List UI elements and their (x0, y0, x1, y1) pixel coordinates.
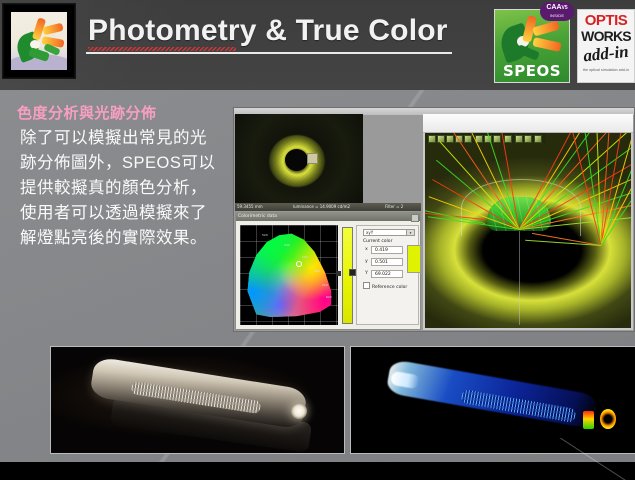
field-label-x: x (363, 246, 370, 254)
luminance-map-viewer (235, 114, 363, 203)
slide-canvas: Photometry & True Color SPEOS CAAV5 INSI… (0, 0, 635, 480)
section-body-text: 除了可以模擬出常見的光跡分佈圖外，SPEOS可以提供較擬真的顏色分析，使用者可以… (20, 126, 220, 251)
pan-icon[interactable] (446, 135, 454, 143)
cie-chromaticity-diagram[interactable]: 520 540 560 580 600 620 (240, 225, 338, 325)
spellcheck-underline (88, 47, 236, 51)
luminance-hotspot-bar (583, 411, 594, 429)
title-underline (86, 52, 452, 54)
true-color-render (50, 346, 345, 454)
field-value-y[interactable]: 0.501 (371, 258, 403, 266)
lamp-bulb-highlight (291, 403, 307, 419)
page-title: Photometry & True Color (88, 14, 448, 48)
current-color-group-label: Current color (363, 239, 392, 244)
speos-logo-ray-2 (532, 21, 559, 37)
viewport-toolbar[interactable] (426, 133, 546, 143)
cie-wavelength-label-560: 560 (302, 255, 308, 259)
colorimetric-window-titlebar[interactable]: Colorimetric data (236, 213, 420, 221)
cie-wavelength-label-620: 620 (326, 295, 332, 299)
reference-color-label: Reference color (372, 285, 407, 290)
caa-badge-sub: INSIDE (540, 12, 574, 20)
field-row-x: x 0.419 (363, 246, 403, 254)
color-space-select[interactable]: xyY ▾ (363, 229, 415, 236)
cie-wavelength-label-600: 600 (322, 283, 328, 287)
icon-ray-orange-2 (42, 23, 63, 36)
caa-v5-badge: CAAV5 INSIDE (540, 2, 574, 21)
speos-logo-ray-3 (532, 37, 561, 52)
status-luminance: luminance = 14.9009 cd/m2 (293, 203, 350, 211)
viewport-axis-line (519, 225, 520, 325)
field-value-Y[interactable]: 69.022 (371, 270, 403, 278)
colorimetric-data-window: Colorimetric data 520 540 560 580 600 62… (235, 212, 421, 330)
fit-view-icon[interactable] (464, 135, 472, 143)
cie-wavelength-label-520: 520 (262, 233, 268, 237)
field-label-Y: Y (363, 270, 370, 278)
reference-color-checkbox[interactable]: Reference color (363, 282, 407, 290)
optis-logo-line1: OPTIS (578, 12, 634, 29)
status-filter: Filter = 2 (385, 203, 403, 211)
corner-diagonal-highlight (515, 438, 635, 480)
optis-works-logo: OPTIS WORKS add-in the optical simulatio… (577, 9, 635, 83)
color-space-select-value: xyY (366, 230, 373, 235)
luminance-hotspot-ring (600, 409, 616, 429)
close-icon[interactable] (411, 214, 419, 222)
field-row-Y: Y 69.022 (363, 270, 403, 278)
color-mode-radio[interactable] (349, 269, 356, 276)
measure-icon[interactable] (504, 135, 512, 143)
field-label-y: y (363, 258, 370, 266)
speos-app-icon (3, 4, 75, 78)
caa-badge-text: CAA (546, 4, 561, 11)
field-row-y: y 0.501 (363, 258, 403, 266)
optis-logo-line4: the optical simulation add-in (578, 68, 634, 72)
cie-wavelength-label-540: 540 (284, 243, 290, 247)
field-value-x[interactable]: 0.419 (371, 246, 403, 254)
section-heading: 色度分析與光跡分佈 (17, 102, 157, 123)
optis-logo-line3: add-in (577, 41, 635, 67)
light-source-icon[interactable] (515, 135, 523, 143)
luminance-noise-overlay (235, 114, 363, 203)
viewer-status-bar: 59.3455 mm luminance = 14.9009 cd/m2 Fil… (235, 203, 421, 211)
status-position: 59.3455 mm (237, 203, 263, 211)
application-screenshot: 59.3455 mm luminance = 14.9009 cd/m2 Fil… (233, 107, 635, 332)
speos-app-icon-image (11, 12, 67, 70)
settings-icon[interactable] (534, 135, 542, 143)
ray-trace-window-titlebar[interactable] (423, 114, 633, 133)
ray-trace-window (423, 114, 633, 330)
colorimetric-window-title: Colorimetric data (238, 214, 277, 219)
cie-wavelength-label-580: 580 (314, 269, 320, 273)
speos-logo-wordmark: SPEOS (495, 62, 569, 80)
color-slider-knob[interactable] (336, 271, 341, 276)
chevron-down-icon[interactable]: ▾ (406, 230, 414, 235)
3d-ray-trace-viewport[interactable] (425, 133, 631, 328)
slide-header: Photometry & True Color SPEOS CAAV5 INSI… (0, 0, 635, 90)
shading-icon[interactable] (493, 135, 501, 143)
cie-color-marker[interactable] (296, 261, 302, 267)
current-color-swatch (407, 245, 421, 273)
zoom-in-icon[interactable] (428, 135, 436, 143)
sensor-icon[interactable] (524, 135, 532, 143)
color-values-panel: xyY ▾ Current color x 0.419 y 0.501 Y 69… (356, 225, 419, 325)
checkbox-box-icon[interactable] (363, 282, 370, 289)
caa-badge-sup: V5 (562, 5, 568, 11)
